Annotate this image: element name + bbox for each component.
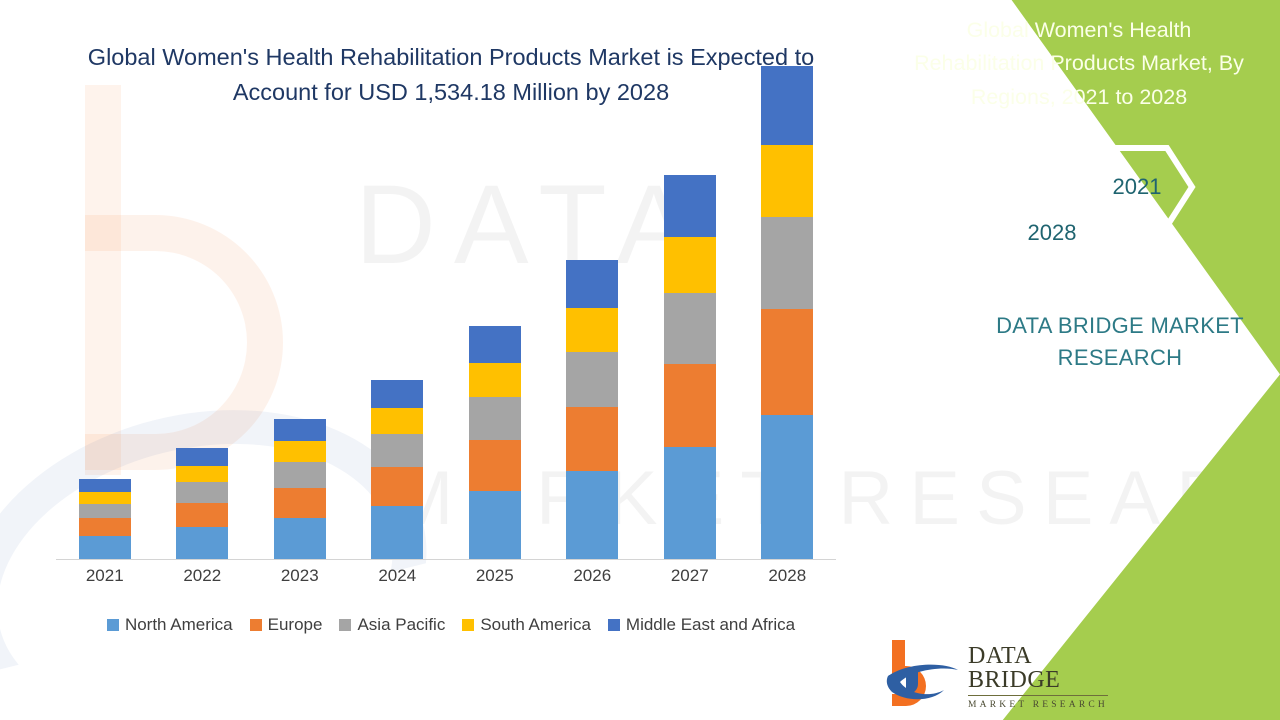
hexagon-2028-label: 2028 bbox=[1012, 220, 1092, 246]
logo-mark-icon bbox=[886, 636, 964, 708]
hexagon-2021-label: 2021 bbox=[1098, 174, 1176, 200]
brand-name-text: DATA BRIDGE MARKET RESEARCH bbox=[975, 310, 1265, 374]
infographic-canvas: DATA MARKET RESEARCH Global Women's Heal… bbox=[0, 0, 1280, 720]
logo-main-text: DATA BRIDGE bbox=[968, 644, 1108, 696]
logo-wordmark: DATA BRIDGE MARKET RESEARCH bbox=[968, 644, 1108, 710]
data-bridge-logo: DATA BRIDGE MARKET RESEARCH bbox=[886, 636, 1111, 708]
logo-sub-text: MARKET RESEARCH bbox=[968, 700, 1108, 710]
